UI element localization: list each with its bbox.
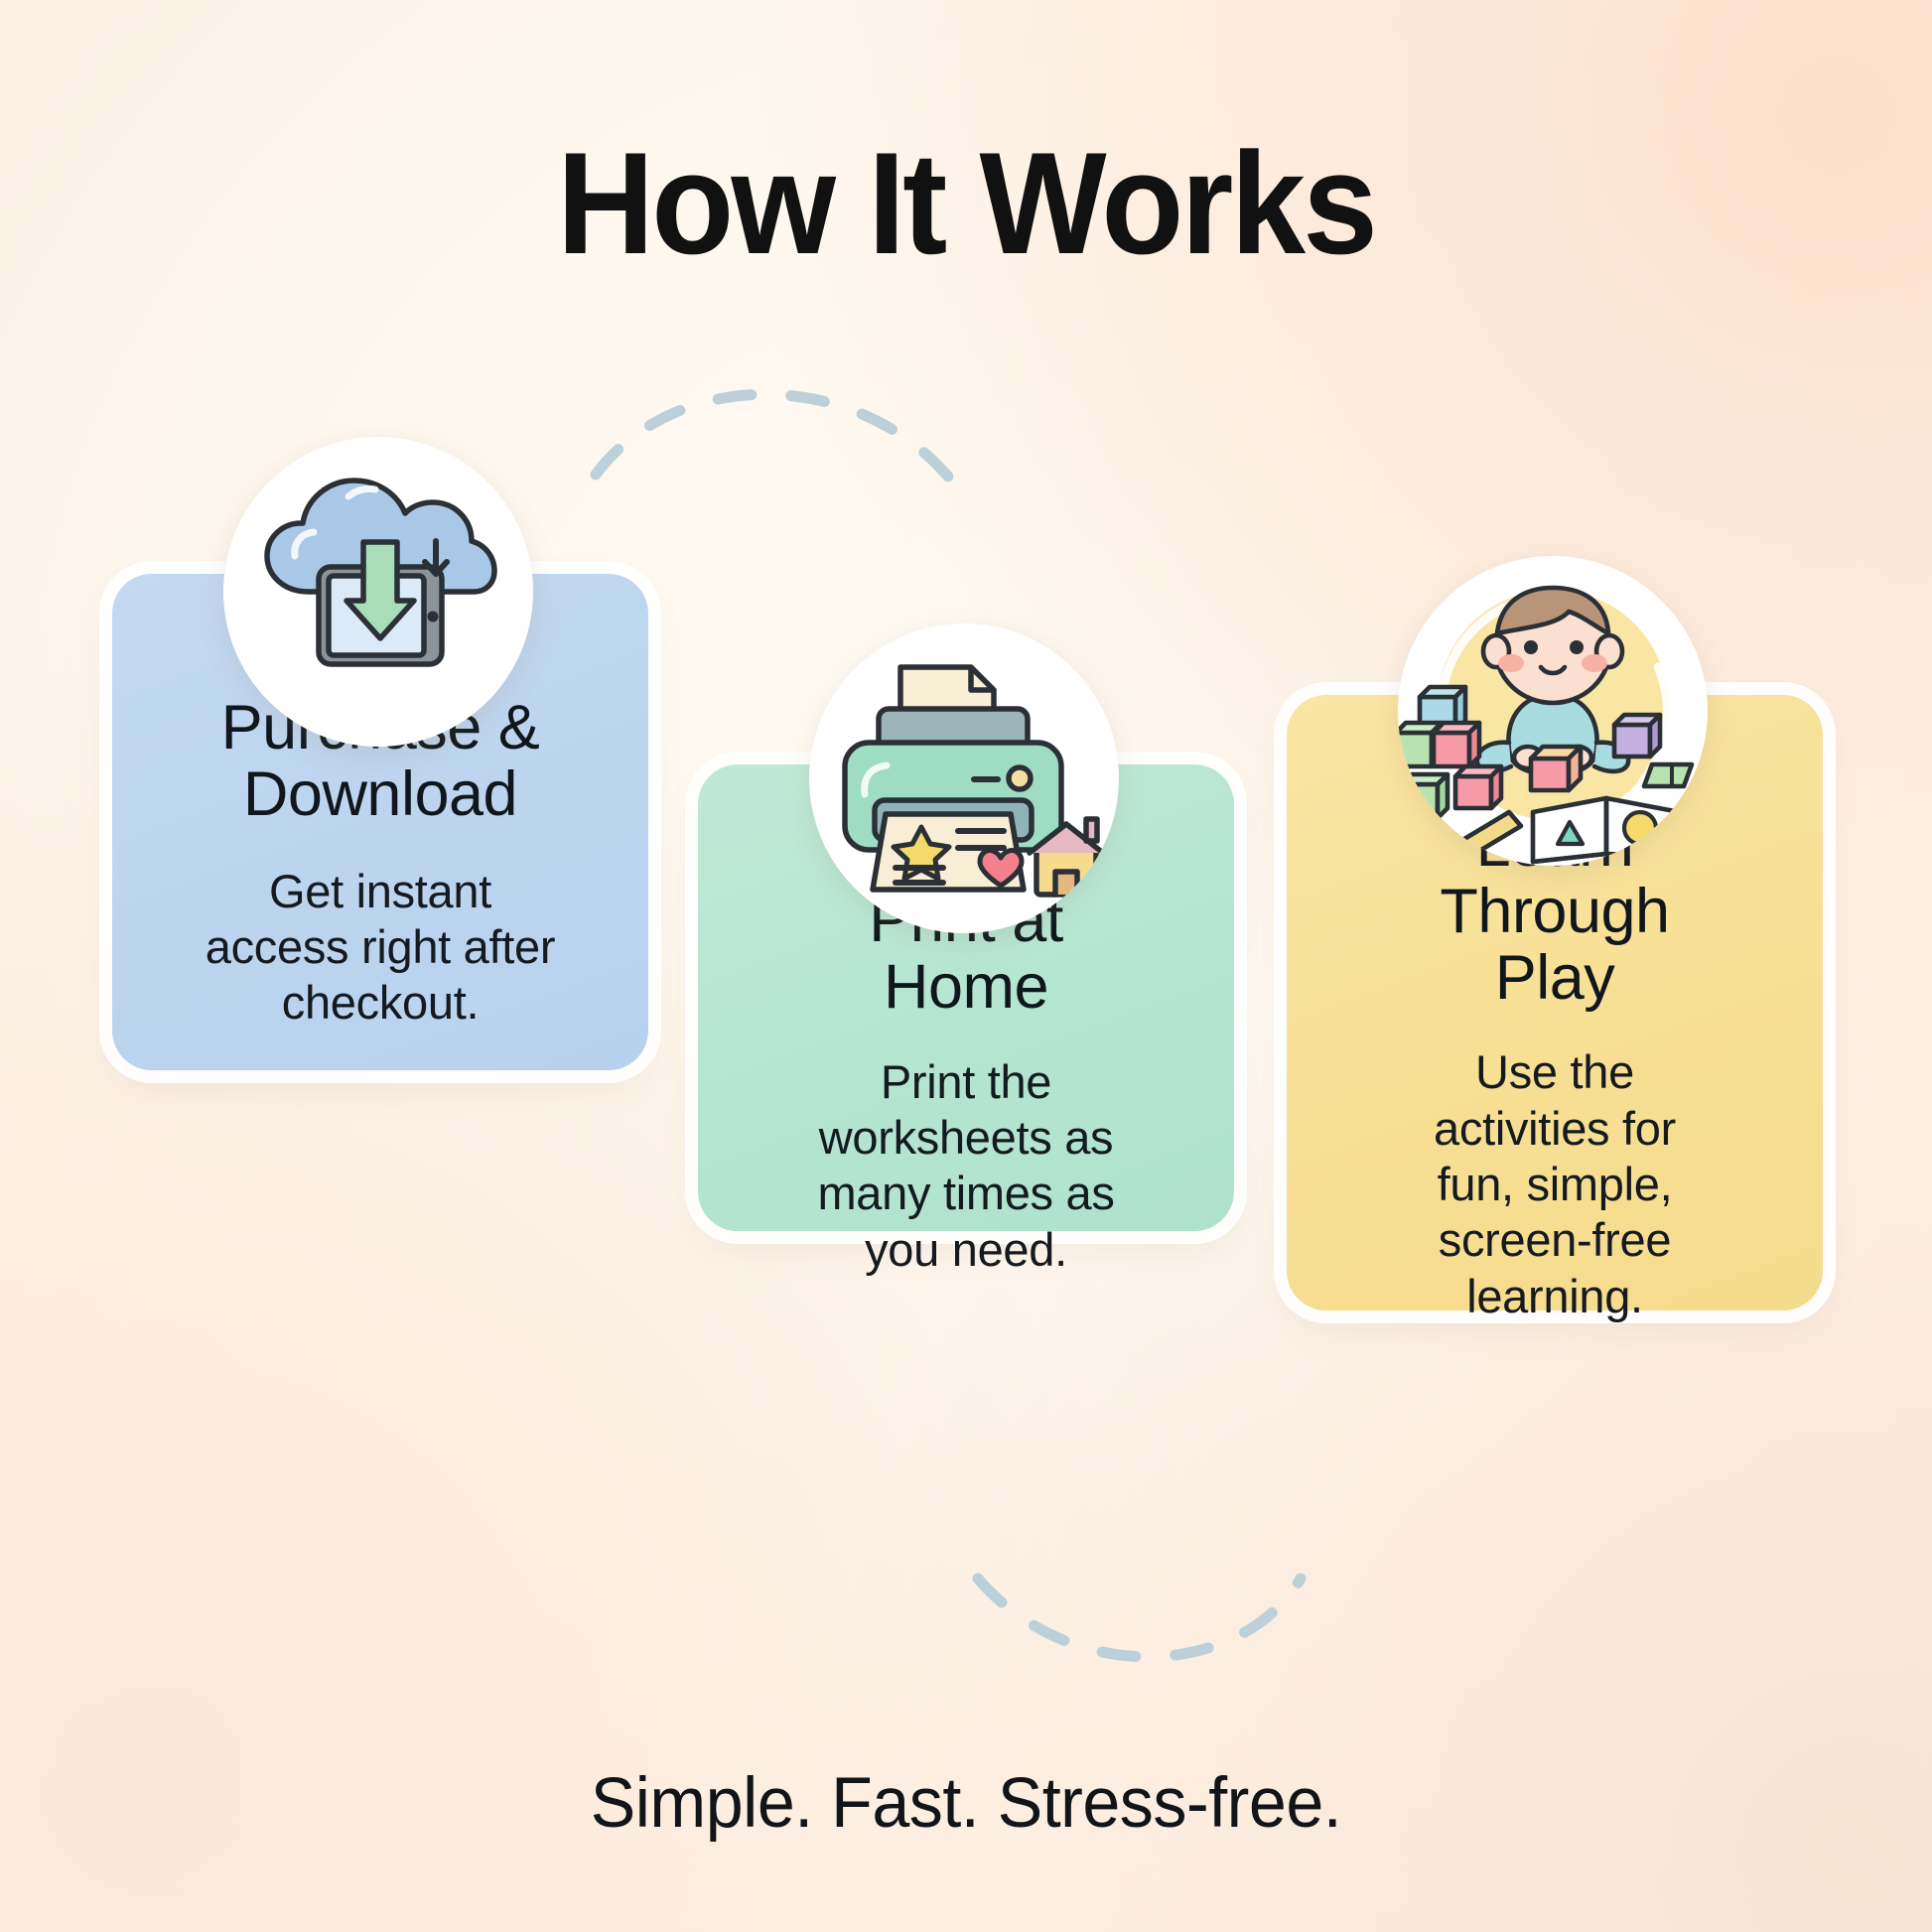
step-1-body: Get instant access right after checkout. xyxy=(184,864,577,1032)
footer-tagline: Simple. Fast. Stress-free. xyxy=(39,1763,1893,1844)
cloud-download-tablet-icon xyxy=(223,437,533,747)
page-title: How It Works xyxy=(68,131,1864,276)
connector-arc-2 xyxy=(978,1579,1301,1657)
baby-blocks-book-icon xyxy=(1398,556,1708,866)
connector-arc-1 xyxy=(596,394,948,477)
step-1-icon-badge xyxy=(223,437,533,747)
infographic-canvas: How It Works Purchase & Download Get ins… xyxy=(0,0,1932,1932)
step-3-icon-badge xyxy=(1398,556,1708,866)
step-2-body: Print the worksheets as many times as yo… xyxy=(795,1054,1136,1279)
step-2-icon-badge xyxy=(809,623,1119,933)
printer-worksheet-house-icon xyxy=(809,623,1119,933)
step-3-body: Use the activities for fun, simple, scre… xyxy=(1412,1044,1698,1324)
